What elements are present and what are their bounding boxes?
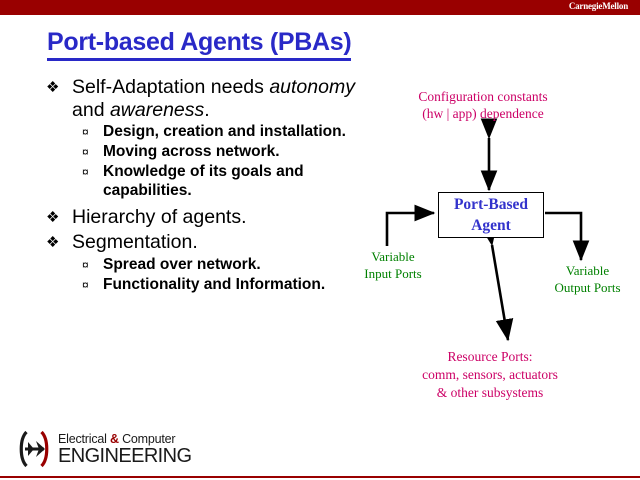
diamond-bullet-icon: ❖ xyxy=(46,76,72,100)
sub-bullet-moving-across-network: ¤ Moving across network. xyxy=(82,143,366,162)
footer-rule xyxy=(0,476,640,478)
bullet-text: Self-Adaptation needs autonomy and aware… xyxy=(72,76,366,122)
sub-bullet-knowledge-goals: ¤ Knowledge of its goals and capabilitie… xyxy=(82,163,366,200)
sub-bullet-label: Functionality and Information. xyxy=(103,276,366,295)
resource-line-1: Resource Ports: xyxy=(375,348,605,366)
ece-logo-text: Electrical & Computer ENGINEERING xyxy=(58,432,191,467)
square-bullet-icon: ¤ xyxy=(82,143,103,162)
ece-logo-ampersand: & xyxy=(110,432,119,446)
square-bullet-icon: ¤ xyxy=(82,163,103,182)
resource-line-3: & other subsystems xyxy=(375,384,605,402)
top-banner xyxy=(0,0,640,15)
resource-line-2: comm, sensors, actuators xyxy=(375,366,605,384)
bullet-text-italic-awareness: awareness xyxy=(110,99,204,121)
label-configuration-constants: Configuration constants (hw | app) depen… xyxy=(358,88,608,122)
sub-bullet-functionality-information: ¤ Functionality and Information. xyxy=(82,276,366,295)
port-based-agent-diagram: Configuration constants (hw | app) depen… xyxy=(340,78,640,408)
ece-logo-computer: Computer xyxy=(119,432,176,446)
config-label-line-2: (hw | app) dependence xyxy=(358,105,608,122)
input-ports-line-1: Variable xyxy=(338,248,448,265)
label-variable-input-ports: Variable Input Ports xyxy=(338,248,448,282)
bullet-text-part-1: Self-Adaptation needs xyxy=(72,76,269,98)
ece-logo-electrical: Electrical xyxy=(58,432,110,446)
sub-bullet-label: Spread over network. xyxy=(103,256,366,275)
arrow-agent-to-resource-ports xyxy=(492,245,508,340)
square-bullet-icon: ¤ xyxy=(82,123,103,142)
diamond-bullet-icon: ❖ xyxy=(46,231,72,255)
output-ports-line-2: Output Ports xyxy=(530,279,640,296)
carnegie-mellon-logo: CarnegieMellon xyxy=(569,1,628,11)
bullet-label: Hierarchy of agents. xyxy=(72,206,366,229)
sub-bullet-spread-over-network: ¤ Spread over network. xyxy=(82,256,366,275)
port-based-agent-box: Port-Based Agent xyxy=(438,192,544,238)
label-variable-output-ports: Variable Output Ports xyxy=(530,262,640,296)
pba-box-line-1: Port-Based xyxy=(439,194,543,215)
ece-logo-line-2: ENGINEERING xyxy=(58,446,191,467)
sub-bullet-label: Design, creation and installation. xyxy=(103,123,366,142)
diamond-bullet-icon: ❖ xyxy=(46,206,72,230)
sub-bullet-label: Knowledge of its goals and capabilities. xyxy=(103,163,366,200)
sub-bullet-design-creation: ¤ Design, creation and installation. xyxy=(82,123,366,142)
ece-emblem-icon xyxy=(14,428,54,470)
arrow-agent-to-output-ports xyxy=(545,213,581,260)
bullet-item-hierarchy: ❖ Hierarchy of agents. xyxy=(46,206,366,230)
square-bullet-icon: ¤ xyxy=(82,276,103,295)
bullet-list: ❖ Self-Adaptation needs autonomy and awa… xyxy=(46,76,366,296)
square-bullet-icon: ¤ xyxy=(82,256,103,275)
bullet-item-self-adaptation: ❖ Self-Adaptation needs autonomy and awa… xyxy=(46,76,366,122)
arrow-input-ports-to-agent xyxy=(387,213,434,246)
bullet-label: Segmentation. xyxy=(72,231,366,254)
input-ports-line-2: Input Ports xyxy=(338,265,448,282)
bullet-text-part-3: . xyxy=(204,99,209,121)
page-title: Port-based Agents (PBAs) xyxy=(47,28,351,61)
sub-bullet-label: Moving across network. xyxy=(103,143,366,162)
bullet-text-part-2: and xyxy=(72,99,110,121)
bullet-item-segmentation: ❖ Segmentation. xyxy=(46,231,366,255)
ece-logo-line-1: Electrical & Computer xyxy=(58,432,191,446)
ece-department-logo: Electrical & Computer ENGINEERING xyxy=(14,428,191,470)
output-ports-line-1: Variable xyxy=(530,262,640,279)
config-label-line-1: Configuration constants xyxy=(358,88,608,105)
pba-box-line-2: Agent xyxy=(439,215,543,236)
label-resource-ports: Resource Ports: comm, sensors, actuators… xyxy=(375,348,605,402)
